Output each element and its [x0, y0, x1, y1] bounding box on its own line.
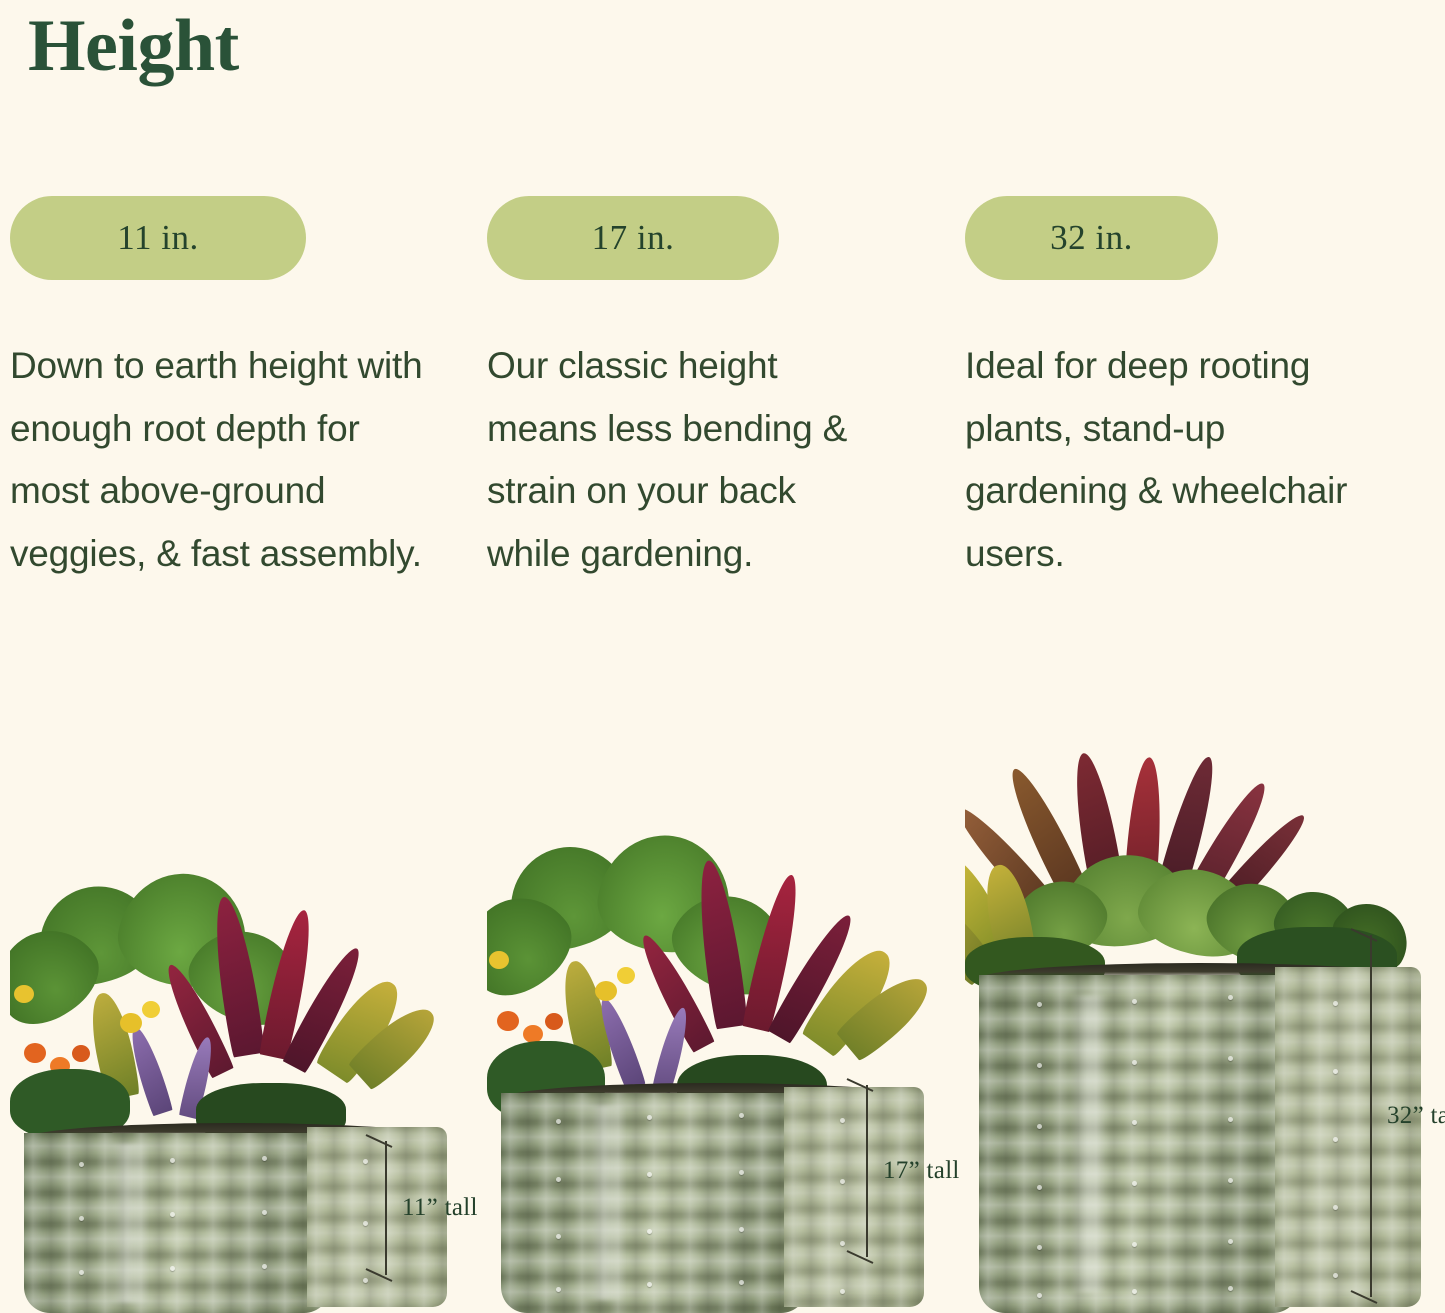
dimension-line-icon — [1347, 927, 1381, 1305]
height-option-32in: 32 in. Ideal for deep rooting plants, st… — [965, 196, 1435, 1313]
height-options-grid: 11 in. Down to earth height with enough … — [0, 196, 1445, 1313]
dimension-line-icon — [362, 1133, 396, 1283]
height-comparison-page: Height 11 in. Down to earth height with … — [0, 0, 1445, 1313]
garden-bed-image-32in: 32” tall — [965, 751, 1435, 1313]
dimension-annotation-17in: 17” tall — [843, 1077, 960, 1265]
height-description-32in: Ideal for deep rooting plants, stand-up … — [965, 335, 1365, 585]
dimension-line-icon — [843, 1077, 877, 1265]
height-badge-32in[interactable]: 32 in. — [965, 196, 1218, 280]
dimension-label-17in: 17” tall — [883, 1157, 960, 1185]
dimension-annotation-32in: 32” tall — [1347, 927, 1445, 1305]
dimension-annotation-11in: 11” tall — [362, 1133, 478, 1283]
height-description-11in: Down to earth height with enough root de… — [10, 335, 430, 585]
height-option-11in: 11 in. Down to earth height with enough … — [10, 196, 460, 1313]
height-badge-11in[interactable]: 11 in. — [10, 196, 306, 280]
garden-bed-image-17in: 17” tall — [487, 835, 937, 1313]
dimension-label-11in: 11” tall — [402, 1194, 478, 1222]
height-badge-17in[interactable]: 17 in. — [487, 196, 779, 280]
height-description-17in: Our classic height means less bending & … — [487, 335, 887, 585]
dimension-label-32in: 32” tall — [1387, 1102, 1445, 1130]
garden-bed-image-11in: 11” tall — [10, 873, 460, 1313]
page-title: Height — [28, 8, 239, 86]
height-option-17in: 17 in. Our classic height means less ben… — [487, 196, 937, 1313]
foliage-group-11in — [10, 873, 460, 1143]
